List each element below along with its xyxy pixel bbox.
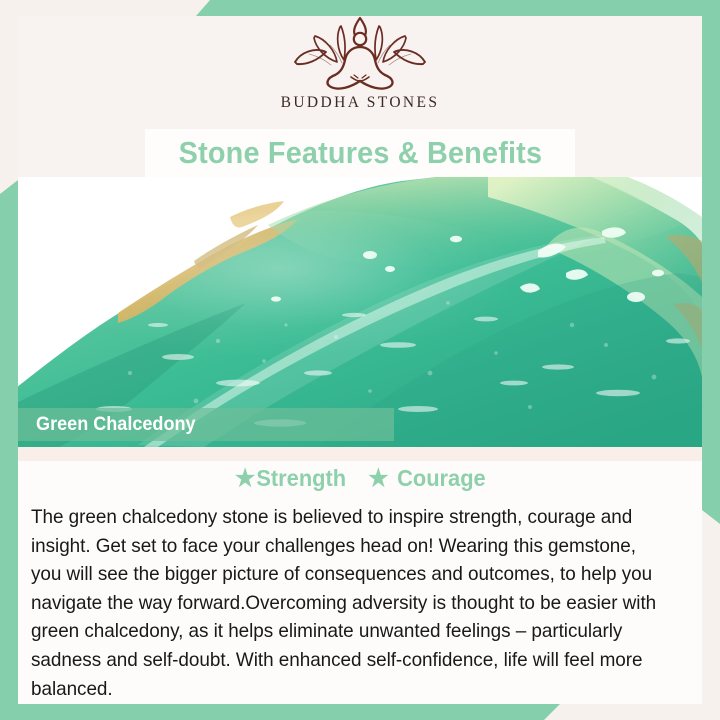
infographic-page: BUDDHA STONES Stone Features & Benefits [0,0,720,720]
keyword-row: ★ Strength ★ Courage [18,465,702,492]
green-chalcedony-illustration [18,177,702,447]
stone-photo [18,177,702,447]
lotus-meditation-icon [285,14,435,92]
keyword-courage: ★ Courage [368,465,486,492]
page-title: Stone Features & Benefits [178,135,542,171]
description-paragraph: The green chalcedony stone is believed t… [31,503,671,703]
photo-caption-bar: Green Chalcedony [18,408,394,441]
keyword-strength-label: Strength [256,465,346,492]
title-banner: Stone Features & Benefits [145,129,575,177]
divider-strip [18,447,702,461]
star-icon: ★ [234,467,254,491]
keyword-courage-label: Courage [397,465,486,492]
keyword-strength: ★ Strength [234,465,345,492]
brand-name: BUDDHA STONES [281,94,440,112]
star-icon: ★ [368,467,388,491]
frame-left-bar [0,180,18,704]
frame-bottom-bar [0,704,560,720]
body-panel: ★ Strength ★ Courage The green chalcedon… [18,461,702,704]
photo-caption-text: Green Chalcedony [18,414,196,436]
